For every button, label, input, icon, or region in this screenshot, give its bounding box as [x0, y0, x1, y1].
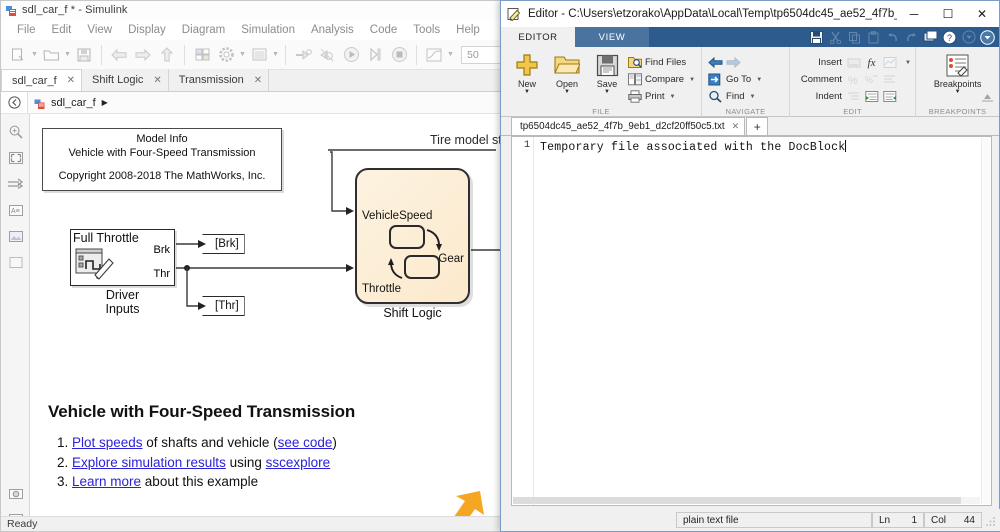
chevron-down-icon[interactable]: ▼ — [564, 89, 570, 95]
screen-root: sdl_car_f * - Simulink File Edit View Di… — [0, 0, 1000, 532]
palette-fit-to-view-icon[interactable] — [1, 145, 30, 171]
list-item: Learn more about this example — [72, 472, 468, 492]
chevron-down-icon[interactable]: ▼ — [689, 77, 695, 83]
editor-status-bar: plain text file Ln 1 Col 44 — [501, 509, 1000, 531]
model-info-copyright: Copyright 2008-2018 The MathWorks, Inc. — [43, 170, 281, 184]
editor-titlebar[interactable]: Editor - C:\Users\etzorako\AppData\Local… — [501, 1, 999, 27]
chevron-down-icon[interactable]: ▼ — [604, 89, 610, 95]
tab-label: Transmission — [179, 74, 244, 86]
folder-open-icon — [554, 52, 580, 78]
magnifier-icon — [708, 89, 723, 104]
line-number-gutter: 1 — [512, 137, 534, 505]
maximize-button[interactable]: ☐ — [931, 1, 965, 27]
close-icon[interactable]: ✕ — [732, 121, 740, 132]
simulink-title-text: sdl_car_f * - Simulink — [22, 4, 128, 16]
driver-port-brk-label: Brk — [154, 244, 171, 256]
close-icon[interactable]: ✕ — [67, 75, 75, 86]
link-explore-simulation-results[interactable]: Explore simulation results — [72, 455, 226, 470]
find-files-icon — [627, 55, 642, 70]
close-icon[interactable]: ✕ — [254, 75, 262, 86]
scope-button[interactable] — [423, 44, 445, 66]
stateflow-transitions — [357, 170, 472, 306]
driver-caption-line2: Inputs — [70, 302, 175, 316]
goto-tag-label: [Brk] — [215, 238, 239, 250]
save-qat-icon[interactable] — [808, 29, 825, 46]
model-explorer-caret-icon[interactable]: ▼ — [271, 44, 280, 66]
menu-analysis[interactable]: Analysis — [303, 24, 362, 36]
yellow-plus-icon — [514, 52, 540, 78]
model-config-caret-icon[interactable]: ▼ — [238, 44, 247, 66]
driver-caption-line1: Driver — [70, 288, 175, 302]
svg-text:%: % — [865, 75, 873, 85]
code-content[interactable]: Temporary file associated with the DocBl… — [534, 137, 991, 505]
svg-text:A≡: A≡ — [11, 208, 20, 215]
signal-builder-icon — [75, 247, 117, 288]
svg-text:?: ? — [947, 33, 952, 43]
insert-icon — [846, 55, 861, 70]
redo-qat-icon — [903, 29, 920, 46]
fast-restart-button[interactable] — [316, 44, 338, 66]
palette-zoom-icon[interactable] — [1, 119, 30, 145]
comment-label: Comment — [796, 74, 842, 85]
find-label: Find — [726, 91, 744, 102]
cut-qat-icon — [827, 29, 844, 46]
palette-annotation-icon[interactable]: A≡ — [1, 197, 30, 223]
model-info-block[interactable]: Model Info Vehicle with Four-Speed Trans… — [42, 128, 282, 191]
orange-arrow-cursor — [444, 489, 486, 518]
print-label: Print — [645, 91, 665, 102]
compare-label: Compare — [645, 74, 684, 85]
editor-title-text: Editor - C:\Users\etzorako\AppData\Local… — [528, 8, 897, 20]
ribbon-group-edit: Insert fx ▼ Comment — [789, 47, 915, 117]
text-caret — [845, 140, 846, 152]
model-annotation: Vehicle with Four-Speed Transmission Plo… — [48, 402, 468, 492]
goto-tag-label: [Thr] — [215, 300, 239, 312]
find-button[interactable]: Find ▼ — [708, 88, 762, 105]
col-label: Col — [931, 515, 946, 526]
quick-access-toolbar: ? — [807, 27, 997, 47]
forward-button[interactable] — [132, 44, 154, 66]
link-sscexplore[interactable]: sscexplore — [266, 455, 331, 470]
document-tab-label: tp6504dc45_ae52_4f7b_9eb1_d2cf20ff50c5.t… — [520, 121, 725, 132]
library-browser-button[interactable] — [191, 44, 213, 66]
tab-editor[interactable]: EDITOR — [501, 27, 575, 47]
annotation-text-suffix: ) — [332, 435, 337, 450]
go-to-label: Go To — [726, 74, 751, 85]
back-circle-icon[interactable] — [1, 92, 27, 114]
run-button[interactable] — [340, 44, 362, 66]
ribbon-group-label-file: FILE — [501, 107, 701, 116]
chevron-down-icon[interactable]: ▼ — [756, 77, 762, 83]
comment-row[interactable]: Comment % % — [796, 71, 911, 88]
menu-file[interactable]: File — [9, 24, 44, 36]
palette-signal-flow-icon[interactable] — [1, 171, 30, 197]
toolbar-separator-3 — [285, 45, 286, 65]
annotation-heading: Vehicle with Four-Speed Transmission — [48, 402, 468, 422]
chevron-right-icon[interactable]: ▶ — [102, 98, 108, 107]
palette-camera-icon[interactable] — [1, 481, 30, 507]
annotation-list: Plot speeds of shafts and vehicle (see c… — [48, 433, 468, 492]
palette-area-icon[interactable] — [1, 249, 30, 275]
link-learn-more[interactable]: Learn more — [72, 474, 141, 489]
shift-logic-caption: Shift Logic — [340, 306, 485, 320]
insert-label: Insert — [796, 57, 842, 68]
ln-label: Ln — [879, 515, 890, 526]
annotation-text: about this example — [141, 474, 258, 489]
editor-document-tabs: tp6504dc45_ae52_4f7b_9eb1_d2cf20ff50c5.t… — [501, 117, 999, 136]
ribbon-group-label-edit: EDIT — [790, 107, 915, 116]
chevron-down-icon[interactable]: ▼ — [955, 89, 961, 95]
ribbon-tab-strip: EDITOR VIEW — [501, 27, 999, 47]
paste-qat-icon — [865, 29, 882, 46]
svg-text:%: % — [848, 75, 858, 86]
driver-block-title: Full Throttle — [73, 231, 139, 245]
fx-label: fx — [868, 57, 876, 69]
ribbon-group-navigate: Go To ▼ Find ▼ NAVIGATE — [701, 47, 789, 117]
insert-plot-icon — [882, 55, 897, 70]
matlab-editor-icon — [507, 7, 521, 21]
goto-tag-brk[interactable]: [Brk] — [202, 234, 245, 254]
tab-transmission[interactable]: Transmission ✕ — [169, 69, 269, 91]
list-item: Plot speeds of shafts and vehicle (see c… — [72, 433, 468, 453]
customize-qat-icon[interactable] — [960, 29, 977, 46]
file-type-status: plain text file — [676, 512, 872, 528]
wrap-comments-icon — [882, 72, 897, 87]
breakpoints-icon — [945, 52, 971, 78]
model-info-line1: Model Info — [43, 133, 281, 147]
model-explorer-button[interactable] — [248, 44, 270, 66]
close-button[interactable]: ✕ — [965, 1, 999, 27]
step-forward-button[interactable] — [364, 44, 386, 66]
chevron-down-icon[interactable]: ▼ — [670, 94, 676, 100]
expand-qat-icon[interactable] — [979, 29, 996, 46]
comment-percent-icon: % — [846, 72, 861, 87]
update-model-button[interactable] — [292, 44, 314, 66]
editor-text-area[interactable]: 1 Temporary file associated with the Doc… — [511, 136, 992, 506]
scope-caret-icon[interactable]: ▼ — [446, 44, 455, 66]
menu-view[interactable]: View — [79, 24, 120, 36]
editor-ribbon: New ▼ Open ▼ Save ▼ — [501, 47, 999, 117]
menu-display[interactable]: Display — [120, 24, 174, 36]
function-fx-icon[interactable]: fx — [864, 55, 879, 70]
chevron-down-icon[interactable]: ▼ — [905, 60, 911, 66]
code-line-1: Temporary file associated with the DocBl… — [540, 141, 845, 154]
toolbar-separator-2 — [184, 45, 185, 65]
undo-qat-icon — [884, 29, 901, 46]
find-files-button[interactable]: Find Files — [627, 54, 695, 71]
col-value: 44 — [964, 515, 975, 526]
indent-right-icon[interactable] — [864, 89, 879, 104]
column-status: Col 44 — [924, 512, 982, 528]
palette-spacer — [1, 275, 29, 481]
open-model-button[interactable] — [40, 44, 62, 66]
annotation-text: using — [226, 455, 266, 470]
tab-shift-logic[interactable]: Shift Logic ✕ — [82, 69, 169, 91]
go-to-button[interactable]: Go To ▼ — [708, 71, 762, 88]
up-to-parent-button[interactable] — [156, 44, 178, 66]
model-info-line2: Vehicle with Four-Speed Transmission — [43, 147, 281, 161]
link-see-code[interactable]: see code — [278, 435, 333, 450]
simulink-model-icon — [5, 4, 18, 17]
open-button-label: Open — [556, 79, 578, 89]
smart-indent-icon — [846, 89, 861, 104]
goto-tag-thr[interactable]: [Thr] — [202, 296, 245, 316]
switch-window-qat-icon[interactable] — [922, 29, 939, 46]
printer-icon — [627, 89, 642, 104]
document-tab[interactable]: tp6504dc45_ae52_4f7b_9eb1_d2cf20ff50c5.t… — [511, 117, 745, 135]
annotation-text: of shafts and vehicle ( — [143, 435, 278, 450]
copy-qat-icon — [846, 29, 863, 46]
insert-row[interactable]: Insert fx ▼ — [796, 54, 911, 71]
list-item: Explore simulation results using sscexpl… — [72, 453, 468, 473]
matlab-editor-window: Editor - C:\Users\etzorako\AppData\Local… — [500, 0, 1000, 532]
toolbar-separator-4 — [416, 45, 417, 65]
vertical-scrollbar[interactable] — [981, 138, 990, 504]
resize-grip-icon[interactable] — [985, 514, 997, 526]
model-configuration-button[interactable] — [215, 44, 237, 66]
menu-code[interactable]: Code — [362, 24, 406, 36]
menu-tools[interactable]: Tools — [405, 24, 448, 36]
help-qat-icon[interactable]: ? — [941, 29, 958, 46]
horizontal-scrollbar[interactable] — [513, 497, 980, 504]
line-number: 1 — [512, 140, 530, 151]
shift-logic-chart-block[interactable]: VehicleSpeed Throttle Gear — [355, 168, 470, 304]
print-button[interactable]: Print ▼ — [627, 88, 695, 105]
go-to-icon — [708, 72, 723, 87]
status-text: Ready — [7, 518, 37, 530]
ribbon-group-file: New ▼ Open ▼ Save ▼ — [501, 47, 701, 117]
save-button-label: Save — [597, 79, 618, 89]
indent-left-icon[interactable] — [882, 89, 897, 104]
driver-inputs-block[interactable]: Full Throttle Brk Thr — [70, 229, 175, 286]
link-plot-speeds[interactable]: Plot speeds — [72, 435, 143, 450]
floppy-disk-icon — [594, 52, 620, 78]
scrollbar-thumb[interactable] — [513, 497, 961, 504]
new-model-caret-icon[interactable]: ▼ — [30, 44, 39, 66]
close-icon[interactable]: ✕ — [153, 75, 161, 86]
back-button[interactable] — [108, 44, 130, 66]
model-file-icon — [34, 97, 46, 109]
chevron-down-icon[interactable]: ▼ — [524, 89, 530, 95]
menu-diagram[interactable]: Diagram — [174, 24, 233, 36]
ribbon-group-label-breakpoints: BREAKPOINTS — [916, 107, 999, 116]
toolbar-separator — [101, 45, 102, 65]
palette-image-icon[interactable] — [1, 223, 30, 249]
blue-arrow-left-icon[interactable] — [708, 55, 723, 70]
indent-row[interactable]: Indent — [796, 88, 911, 105]
minimize-button[interactable]: ─ — [897, 1, 931, 27]
driver-inputs-caption: Driver Inputs — [70, 288, 175, 317]
indent-label: Indent — [796, 91, 842, 102]
save-model-button[interactable] — [73, 44, 95, 66]
open-model-caret-icon[interactable]: ▼ — [63, 44, 72, 66]
nav-back-forward-row[interactable] — [708, 54, 762, 71]
tab-label: Shift Logic — [92, 74, 143, 86]
tab-view[interactable]: VIEW — [575, 27, 649, 47]
compare-icon — [627, 72, 642, 87]
ribbon-group-label-navigate: NAVIGATE — [702, 107, 789, 116]
compare-button[interactable]: Compare ▼ — [627, 71, 695, 88]
simulink-palette: A≡ » — [1, 114, 30, 518]
collapse-ribbon-icon[interactable] — [981, 90, 994, 108]
menu-edit[interactable]: Edit — [44, 24, 80, 36]
breakpoints-label: Breakpoints — [934, 79, 982, 89]
new-model-button[interactable] — [7, 44, 29, 66]
blue-arrow-right-icon — [726, 55, 741, 70]
ln-value: 1 — [911, 515, 917, 526]
find-files-label: Find Files — [645, 57, 686, 68]
breadcrumb-path: sdl_car_f — [51, 97, 96, 109]
new-document-tab-button[interactable]: + — [746, 117, 768, 135]
new-button-label: New — [518, 79, 536, 89]
uncomment-icon: % — [864, 72, 879, 87]
menu-simulation[interactable]: Simulation — [233, 24, 303, 36]
line-status: Ln 1 — [872, 512, 924, 528]
tab-sdl-car-f[interactable]: sdl_car_f ✕ — [1, 69, 82, 91]
menu-help[interactable]: Help — [448, 24, 488, 36]
driver-port-thr-label: Thr — [154, 268, 171, 280]
chevron-down-icon[interactable]: ▼ — [750, 94, 756, 100]
stop-button[interactable] — [388, 44, 410, 66]
tab-label: sdl_car_f — [12, 75, 57, 87]
